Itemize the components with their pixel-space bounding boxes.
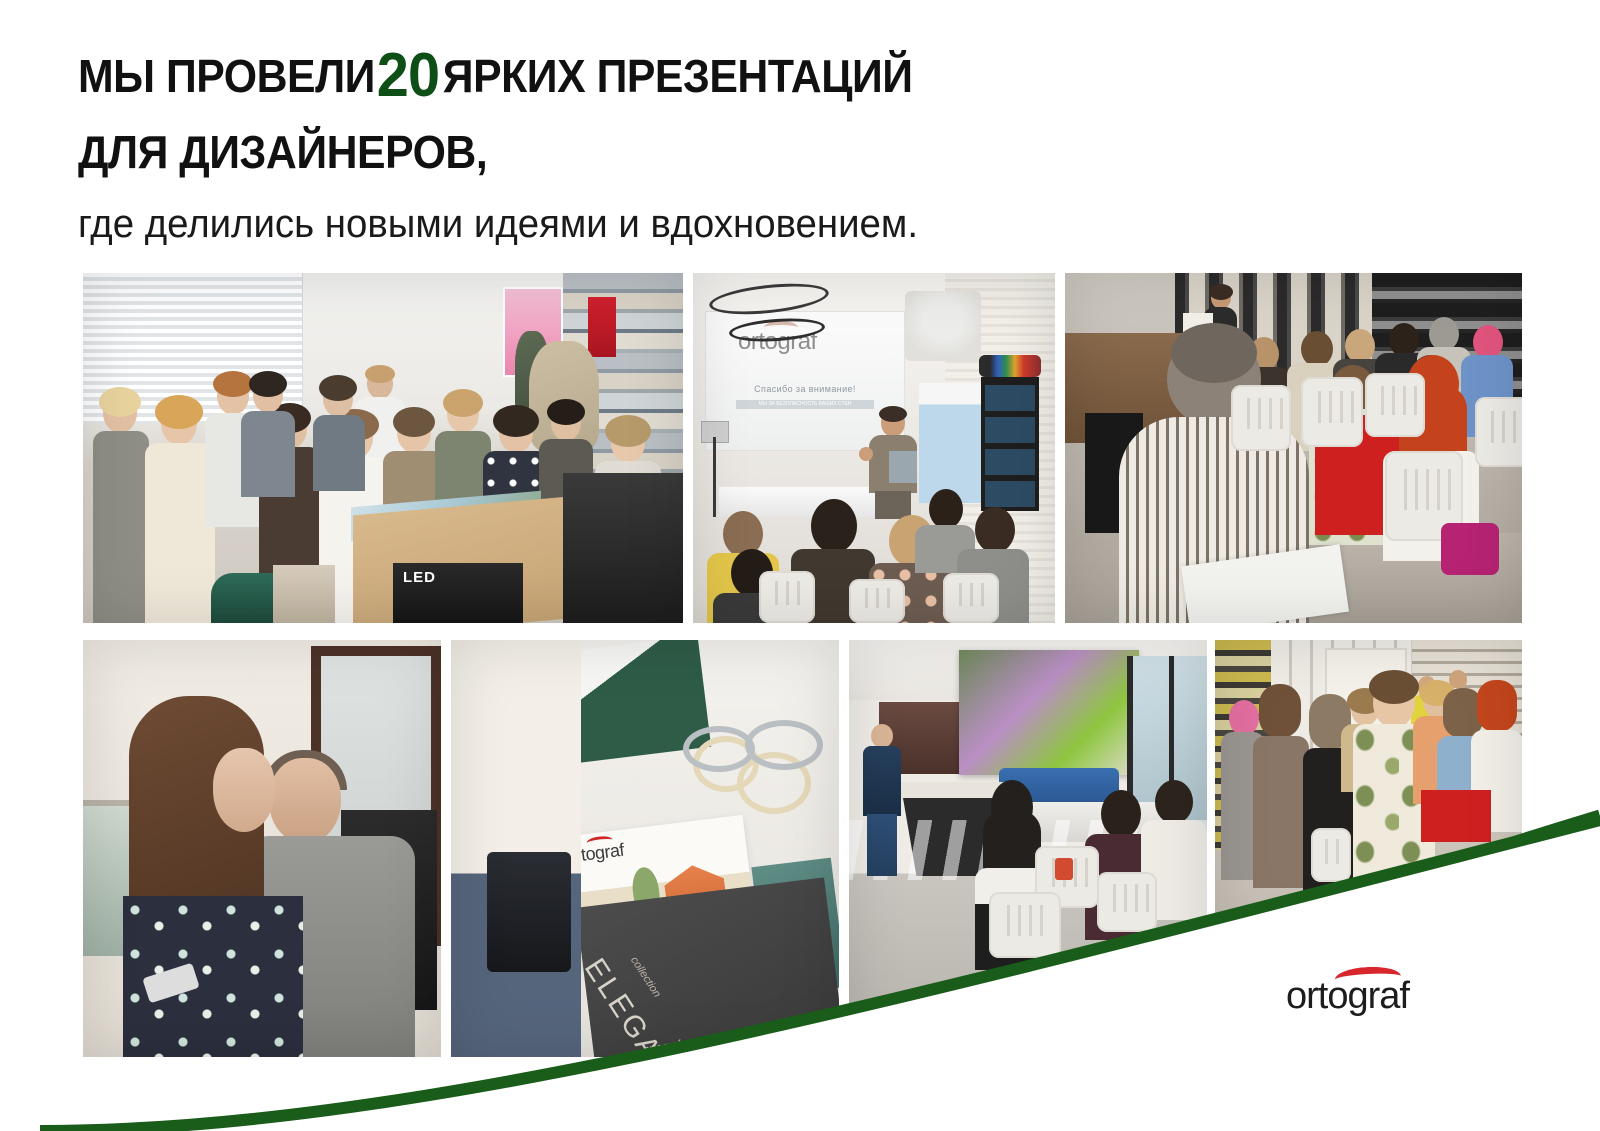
photo-catalogs: LED ortograf ELEGANCE collection o xyxy=(451,640,839,1057)
photo-collage: ortograf Спасибо за внимание! МЫ ЗА БЕЗО… xyxy=(0,0,1600,1131)
photo-presenter-screen: ortograf Спасибо за внимание! МЫ ЗА БЕЗО… xyxy=(693,273,1055,623)
photo-couple-phone xyxy=(83,640,441,1057)
ortograf-logo: ortograf xyxy=(1286,975,1409,1018)
photo-projector-presentation xyxy=(849,640,1207,1057)
photo-showroom-audience xyxy=(83,273,683,623)
photo-seated-audience-back xyxy=(1065,273,1522,623)
photo-audience-women xyxy=(1215,640,1522,940)
